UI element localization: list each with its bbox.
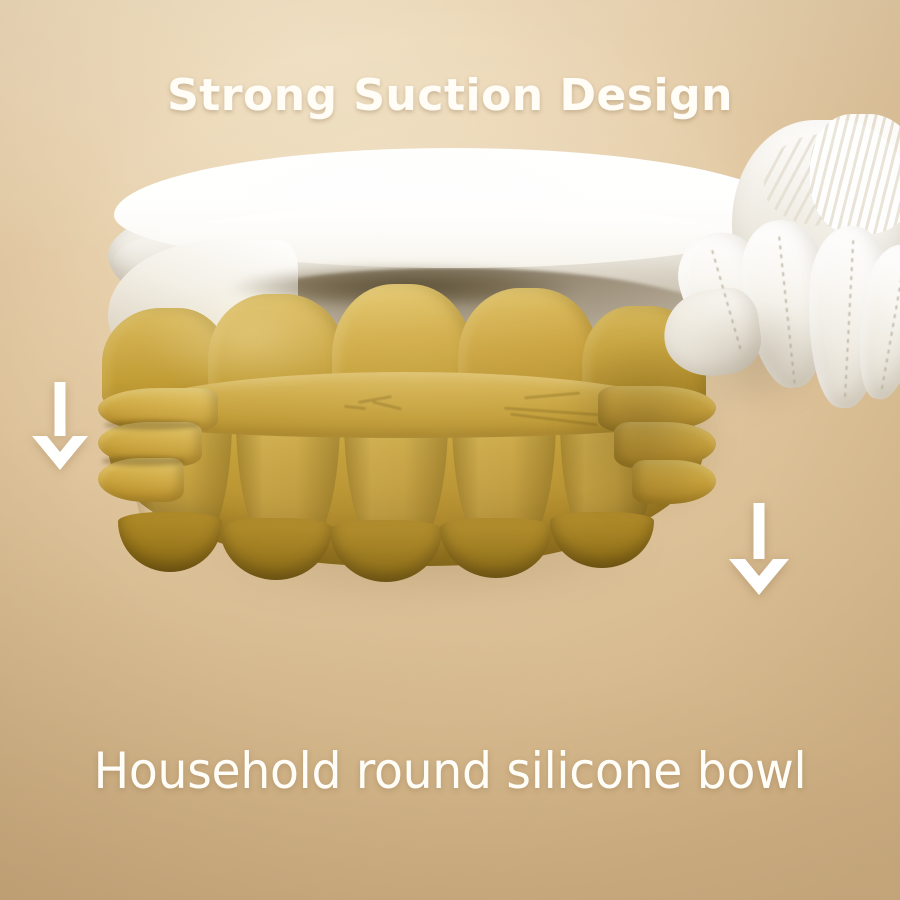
gloved-hand [660,120,900,460]
bowl-petal-gap [102,456,186,466]
bowl-scallop-foot [220,518,332,580]
bowl-scallop-foot [330,520,442,582]
silicone-bowl [100,276,710,576]
bowl-petal [632,460,716,504]
bowl-left-petals [98,388,220,522]
bowl-petal-gap [104,420,200,430]
arrow-down-icon [30,382,90,470]
glove-cuff [810,114,900,234]
caption-text: Household round silicone bowl [25,746,876,796]
product-image: Strong Suction Design Household round si… [0,0,900,900]
headline-text: Strong Suction Design [0,74,900,118]
glove-thumb [658,284,765,383]
bowl-scallop-foot [440,518,552,578]
arrow-down-icon [726,503,792,595]
